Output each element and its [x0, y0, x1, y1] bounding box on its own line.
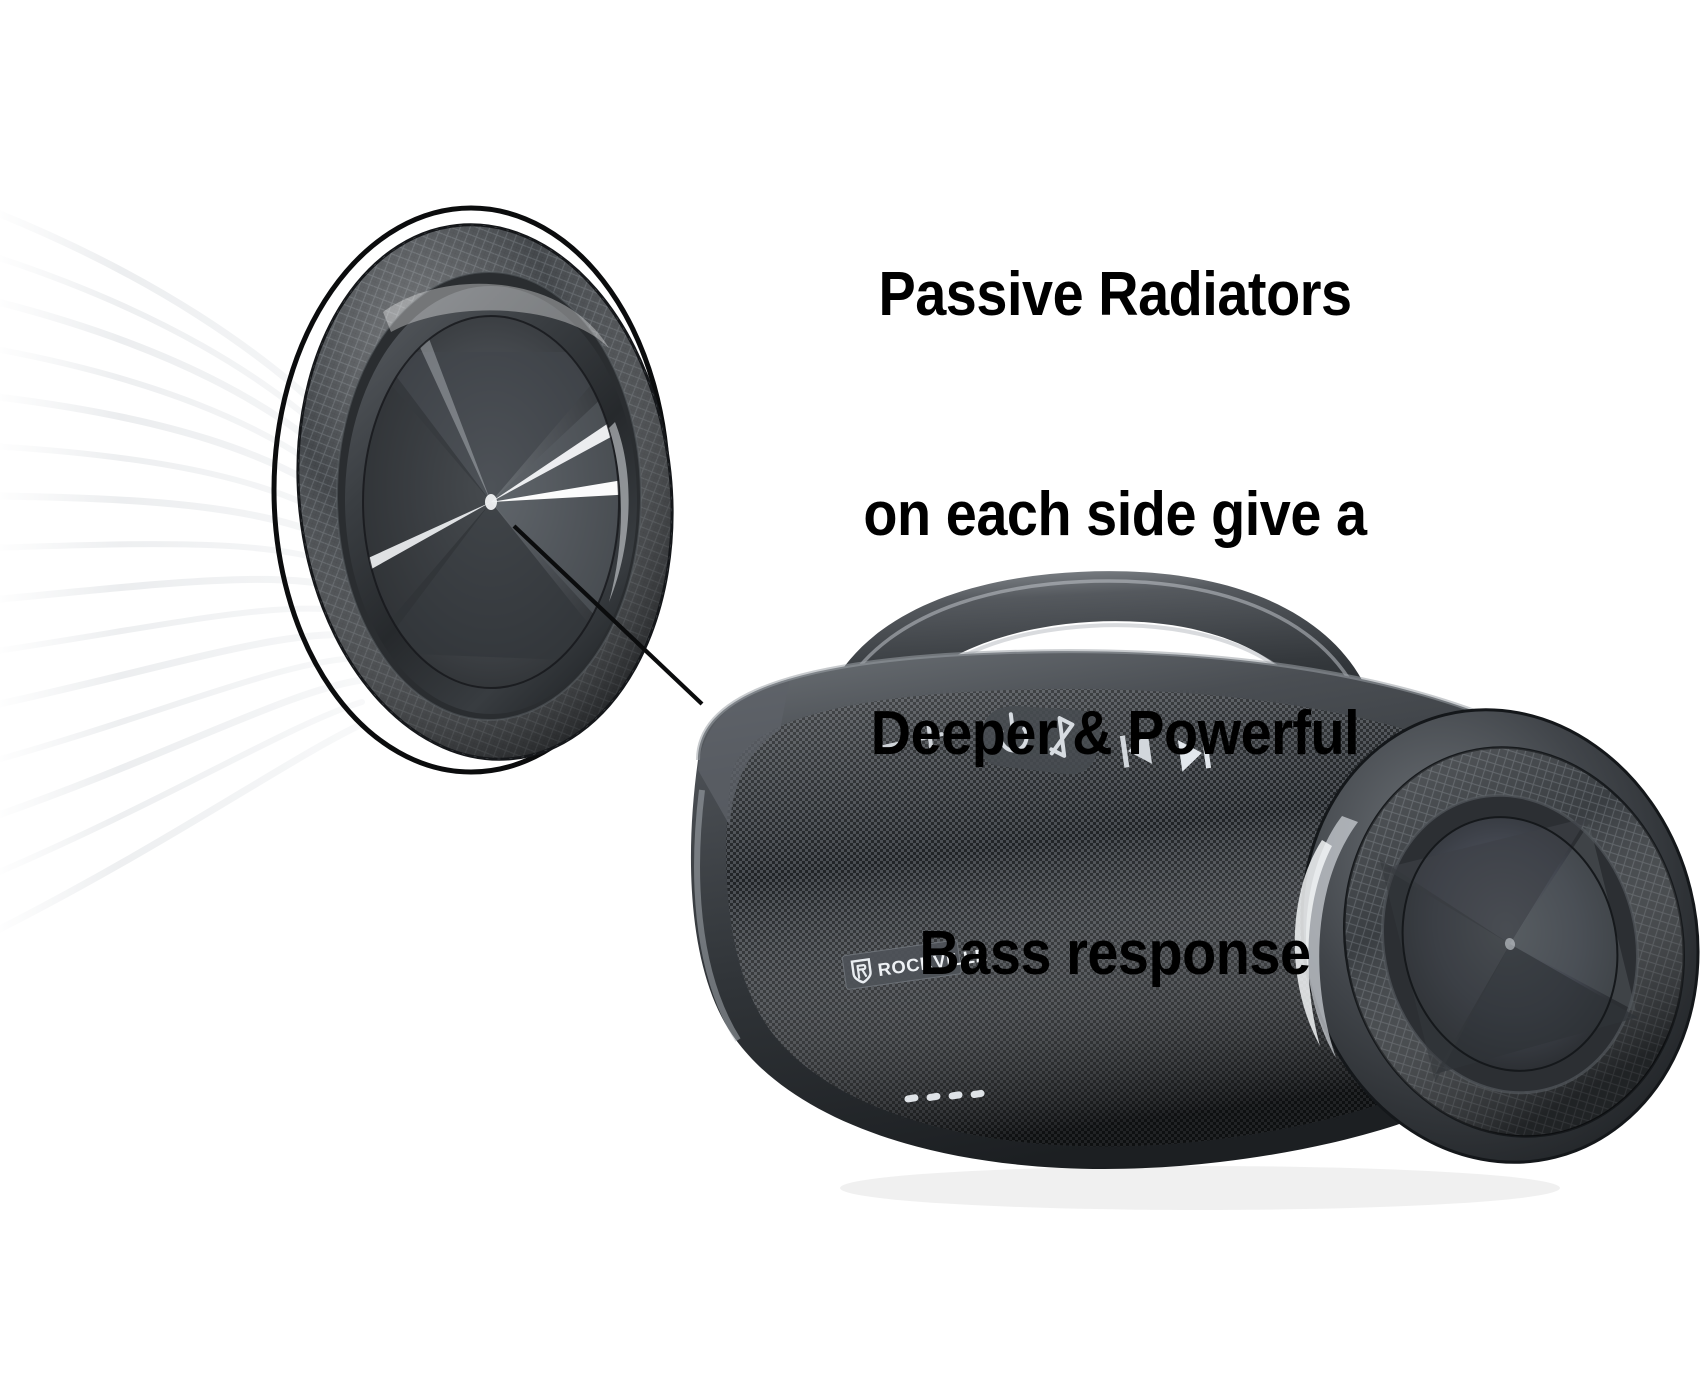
product-image-canvas: ROCKVILLE: [0, 0, 1700, 1390]
headline: Passive Radiators on each side give a De…: [805, 112, 1426, 1136]
headline-line-1: Passive Radiators: [805, 258, 1426, 331]
headline-line-4: Bass response: [805, 917, 1426, 990]
headline-line-3: Deeper & Powerful: [805, 697, 1426, 770]
headline-line-2: on each side give a: [805, 478, 1426, 551]
